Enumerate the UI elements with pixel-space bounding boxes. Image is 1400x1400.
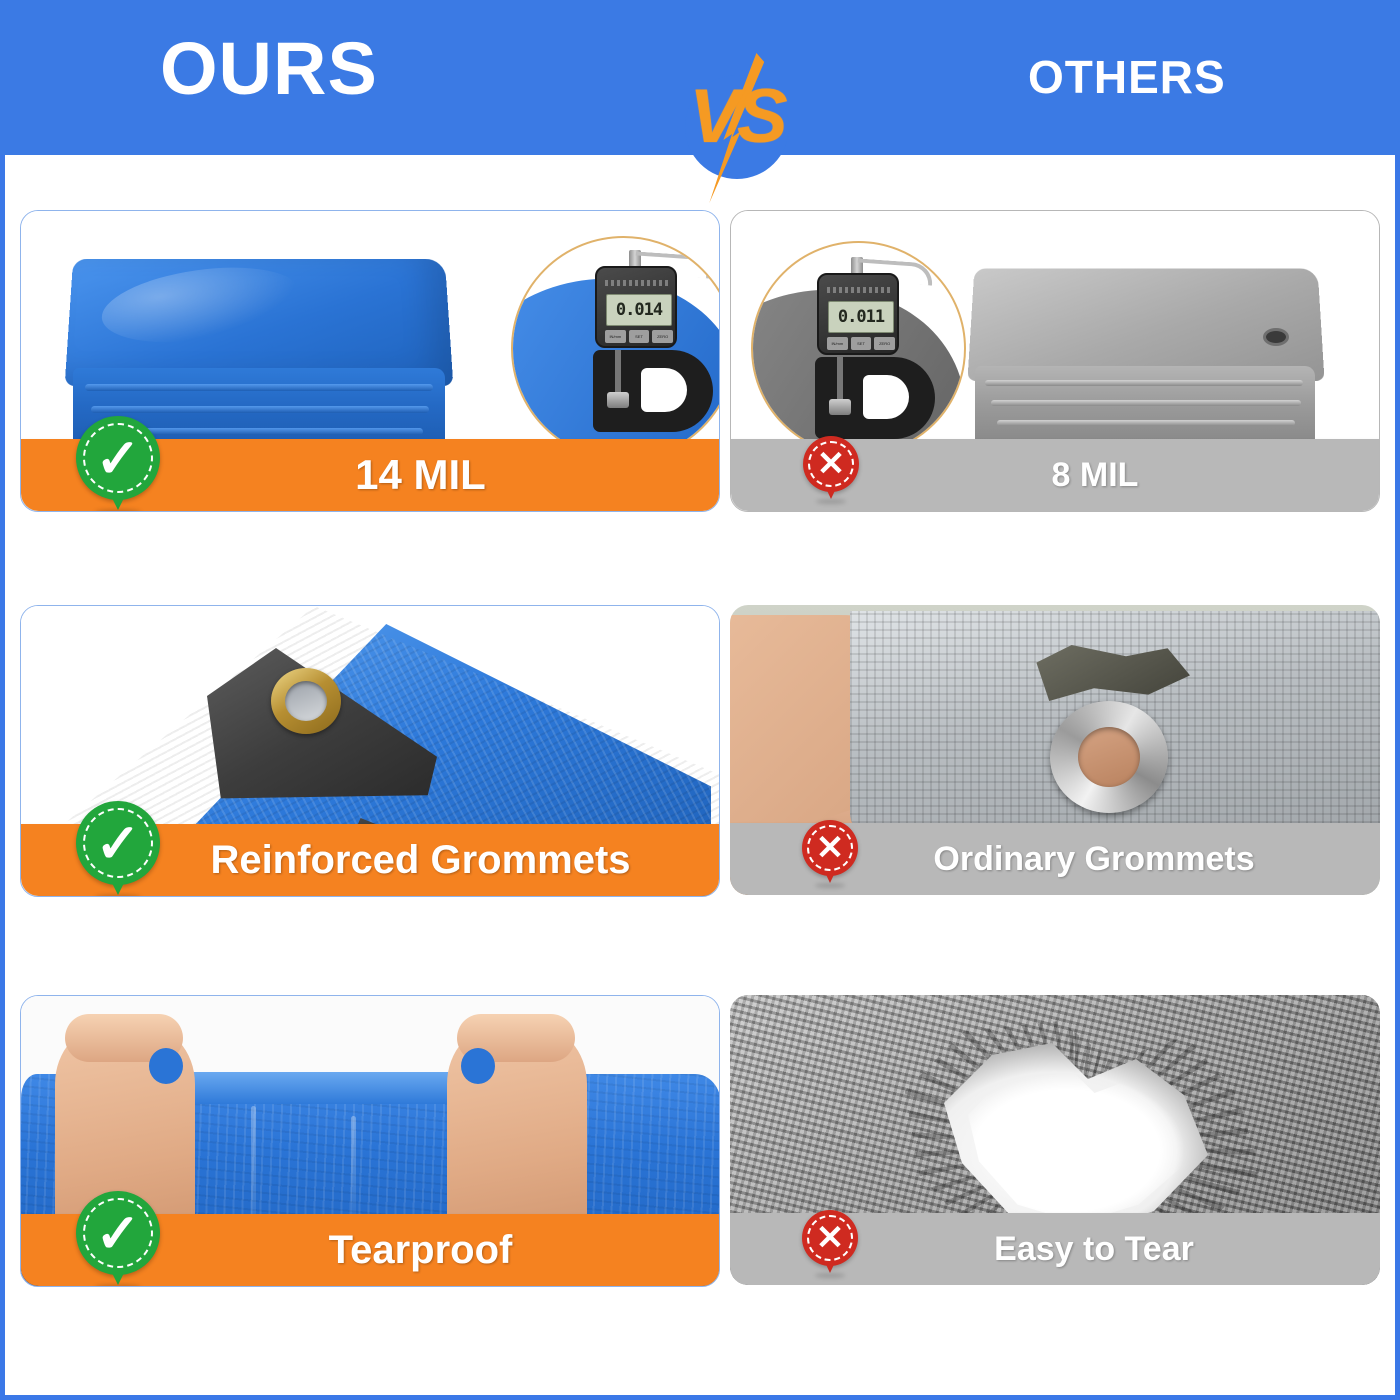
gauge-button-zero: ZERO xyxy=(652,330,673,343)
ours-micrometer-inset: 0.014 IN/mm SET ZERO xyxy=(511,236,719,461)
gauge-button-inmm: IN/mm xyxy=(605,330,626,343)
others-card-grommets: ✕ Ordinary Grommets xyxy=(730,605,1380,895)
ours-gauge-reading: 0.014 xyxy=(616,300,662,320)
ours-label-bar-thickness: ✓ 14 MIL xyxy=(21,439,720,511)
vs-label: VS xyxy=(673,79,801,155)
vs-badge: VS xyxy=(673,53,801,203)
gauge-button-set: SET xyxy=(629,330,650,343)
others-label-bar-tear: ✕ Easy to Tear xyxy=(730,1213,1380,1285)
cross-icon: ✕ xyxy=(802,1210,858,1276)
gauge-button-zero: ZERO xyxy=(874,337,895,350)
check-icon: ✓ xyxy=(76,416,160,512)
gauge-button-inmm: IN/mm xyxy=(827,337,848,350)
others-card-tear: ✕ Easy to Tear xyxy=(730,995,1380,1285)
others-label-grommets: Ordinary Grommets xyxy=(858,840,1380,879)
ours-card-grommets: ✓ Reinforced Grommets xyxy=(20,605,720,897)
micrometer-gauge-icon: 0.014 IN/mm SET ZERO xyxy=(589,250,719,440)
ours-label-bar-grommets: ✓ Reinforced Grommets xyxy=(21,824,720,896)
check-icon: ✓ xyxy=(76,801,160,897)
ours-card-tear: ✓ Tearproof xyxy=(20,995,720,1287)
others-gauge-reading: 0.011 xyxy=(838,307,884,327)
ours-column-thickness: 0.014 IN/mm SET ZERO xyxy=(20,210,720,580)
comparison-row-tear: ✓ Tearproof xyxy=(20,995,1380,1355)
others-label-thickness: 8 MIL xyxy=(859,456,1380,495)
others-title: OTHERS xyxy=(1028,50,1226,104)
others-micrometer-inset: 0.011 IN/mm SET ZERO xyxy=(751,241,966,456)
others-label-tear: Easy to Tear xyxy=(858,1230,1380,1269)
comparison-row-thickness: 0.014 IN/mm SET ZERO xyxy=(20,210,1380,580)
micrometer-gauge-icon: 0.011 IN/mm SET ZERO xyxy=(811,257,937,439)
others-column-tear: ✕ Easy to Tear xyxy=(730,995,1380,1355)
others-column-grommets: ✕ Ordinary Grommets xyxy=(730,605,1380,965)
ours-title: OURS xyxy=(160,26,378,111)
gauge-button-set: SET xyxy=(851,337,872,350)
comparison-infographic: OURS OTHERS VS xyxy=(0,0,1400,1400)
cross-icon: ✕ xyxy=(802,820,858,886)
gray-folded-tarp-illustration xyxy=(961,266,1331,466)
others-card-thickness: 0.011 IN/mm SET ZERO xyxy=(730,210,1380,512)
ours-label-tear: Tearproof xyxy=(160,1228,720,1273)
ours-label-bar-tear: ✓ Tearproof xyxy=(21,1214,720,1286)
cross-icon: ✕ xyxy=(803,436,859,502)
ours-card-thickness: 0.014 IN/mm SET ZERO xyxy=(20,210,720,512)
grommet-icon xyxy=(1263,328,1289,346)
check-icon: ✓ xyxy=(76,1191,160,1287)
ours-label-thickness: 14 MIL xyxy=(160,451,720,499)
others-label-bar-thickness: ✕ 8 MIL xyxy=(731,439,1380,511)
ours-label-grommets: Reinforced Grommets xyxy=(160,838,720,883)
comparison-row-grommets: ✓ Reinforced Grommets xyxy=(20,605,1380,965)
ours-column-tear: ✓ Tearproof xyxy=(20,995,720,1355)
ours-column-grommets: ✓ Reinforced Grommets xyxy=(20,605,720,965)
others-label-bar-grommets: ✕ Ordinary Grommets xyxy=(730,823,1380,895)
others-column-thickness: 0.011 IN/mm SET ZERO xyxy=(730,210,1380,580)
